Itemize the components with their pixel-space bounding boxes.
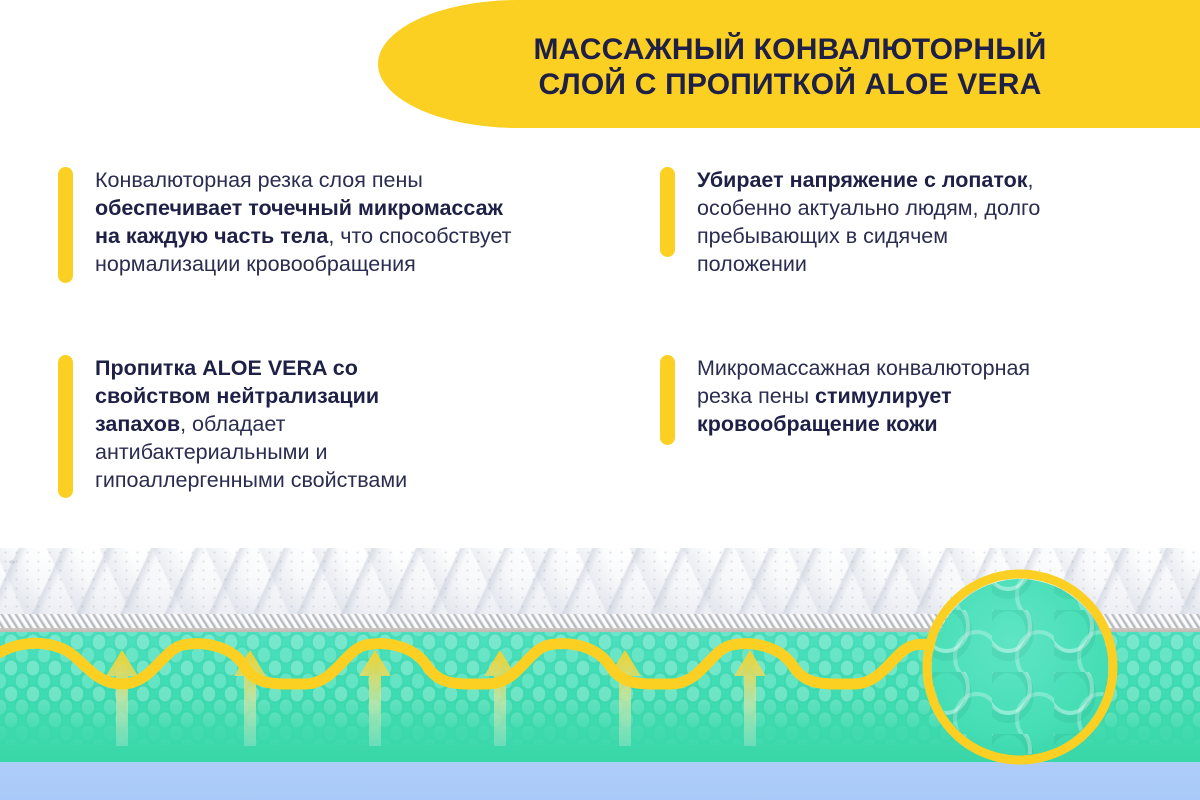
feature-text-2: Пропитка ALOE VERA со свойством нейтрали… (95, 355, 425, 495)
magnifier-lens (927, 574, 1113, 760)
bullet-bar-icon (58, 167, 73, 283)
massage-wave-line (0, 643, 962, 684)
feature-item-2: Пропитка ALOE VERA со свойством нейтрали… (58, 355, 425, 498)
feature-item-1: Конвалюторная резка слоя пены обеспечива… (58, 167, 515, 283)
pressure-arrow-icon (359, 650, 391, 746)
bullet-bar-icon (660, 355, 675, 445)
feature-item-4: Микромассажная конвалюторная резка пены … (660, 355, 1057, 445)
pressure-arrow-icon (734, 650, 766, 746)
feature-text-4: Микромассажная конвалюторная резка пены … (697, 355, 1057, 439)
page-title: МАССАЖНЫЙ КОНВАЛЮТОРНЫЙ СЛОЙ С ПРОПИТКОЙ… (378, 24, 1178, 110)
bullet-bar-icon (58, 355, 73, 498)
illustration-overlay (0, 548, 1200, 800)
feature-list: Конвалюторная резка слоя пены обеспечива… (0, 150, 1200, 550)
feature-item-3: Убирает напряжение с лопаток, особенно а… (660, 167, 1057, 279)
mattress-cross-section (0, 548, 1200, 800)
pressure-arrow-icon (106, 650, 138, 746)
pressure-arrow-icon (484, 650, 516, 746)
feature-text-3: Убирает напряжение с лопаток, особенно а… (697, 167, 1057, 279)
pressure-arrows-group (106, 650, 766, 746)
bullet-bar-icon (660, 167, 675, 257)
infographic-page: МАССАЖНЫЙ КОНВАЛЮТОРНЫЙ СЛОЙ С ПРОПИТКОЙ… (0, 0, 1200, 800)
feature-text-1: Конвалюторная резка слоя пены обеспечива… (95, 167, 515, 279)
